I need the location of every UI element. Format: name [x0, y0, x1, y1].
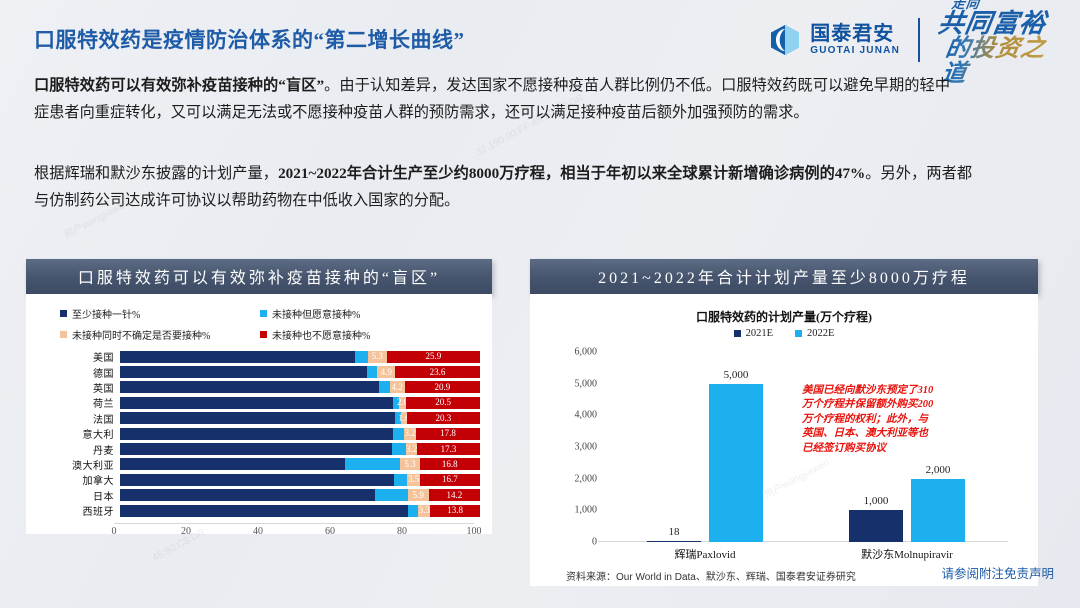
- brand-name-cn: 国泰君安: [810, 24, 900, 44]
- hexagon-logo-icon: [768, 23, 802, 57]
- bar-value-label: 20.3: [436, 414, 452, 423]
- stacked-bar: 1.620.3: [120, 412, 480, 424]
- table-row: 法国1.620.3: [26, 411, 492, 426]
- stacked-bar: 4.923.6: [120, 366, 480, 378]
- bar-segment: 3.5: [407, 474, 420, 486]
- bar-segment: [120, 366, 367, 378]
- right-chart-panel: 2021~2022年合计计划产量至少8000万疗程 口服特效药的计划产量(万个疗…: [530, 259, 1038, 586]
- bar-category-label: 荷兰: [26, 395, 120, 410]
- bar-segment: 4.2: [390, 381, 405, 393]
- left-chart-legend: 至少接种一针%未接种但愿意接种%未接种同时不确定是否要接种%未接种也不愿意接种%: [60, 306, 480, 342]
- bar-value-label: 5,000: [724, 369, 749, 381]
- bar-segment: [379, 381, 389, 393]
- bar-segment: 3.2: [406, 443, 418, 455]
- bar-value-label: 18: [669, 526, 680, 538]
- source-note: 资料来源：Our World in Data、默沙东、辉瑞、国泰君安证券研究: [566, 568, 856, 583]
- legend-label: 未接种但愿意接种%: [272, 306, 360, 321]
- brand-divider: [918, 18, 920, 62]
- bar-segment: [120, 351, 355, 363]
- x-axis-category-label: 辉瑞Paxlovid: [604, 546, 806, 562]
- left-chart-body: 至少接种一针%未接种但愿意接种%未接种同时不确定是否要接种%未接种也不愿意接种%…: [26, 294, 492, 534]
- right-chart-legend: 2021E2022E: [530, 328, 1038, 339]
- bar-segment: [120, 458, 345, 470]
- bar-value-label: 16.7: [442, 475, 458, 484]
- bar: 18: [647, 541, 701, 543]
- left-chart-panel: 口服特效药可以有效弥补疫苗接种的“盲区” 至少接种一针%未接种但愿意接种%未接种…: [26, 259, 492, 534]
- bar-segment: [355, 351, 368, 363]
- y-axis-tick: 6,000: [575, 347, 605, 358]
- bar-value-label: 25.9: [425, 352, 441, 361]
- right-panel-heading: 2021~2022年合计计划产量至少8000万疗程: [530, 259, 1038, 294]
- legend-label: 未接种同时不确定是否要接种%: [72, 327, 210, 342]
- left-chart-x-axis: 020406080100: [114, 523, 474, 540]
- bar-segment: 5.3: [368, 351, 387, 363]
- legend-item: 未接种也不愿意接种%: [260, 327, 460, 342]
- bar-group: 185,000: [604, 352, 806, 542]
- stacked-bar: 4.220.9: [120, 381, 480, 393]
- paragraph-2-bold: 2021~2022年合计生产至少约8000万疗程，相当于年初以来全球累计新增确诊…: [278, 165, 865, 182]
- x-axis-tick: 0: [112, 526, 117, 537]
- brand-name-en: GUOTAI JUNAN: [810, 45, 900, 56]
- bar-value-label: 14.2: [447, 491, 463, 500]
- bar-segment: [392, 443, 406, 455]
- bar-value-label: 20.9: [434, 383, 450, 392]
- bar-segment: [367, 366, 378, 378]
- x-axis-tick: 40: [253, 526, 263, 537]
- bar-segment: 3.3: [418, 505, 430, 517]
- bar-segment: 20.3: [407, 412, 480, 424]
- stacked-bar: 2.020.5: [120, 397, 480, 409]
- table-row: 丹麦3.217.3: [26, 441, 492, 456]
- bar-segment: 3.2: [404, 428, 416, 440]
- bar: 5,000: [709, 384, 763, 542]
- bar-segment: [345, 458, 400, 470]
- brand-lockup: 国泰君安 GUOTAI JUNAN 走向 共同富裕 的投资之道: [768, 14, 1066, 66]
- legend-label: 2022E: [807, 328, 834, 339]
- legend-item: 2022E: [795, 328, 834, 339]
- bar-segment: [120, 474, 394, 486]
- bar-segment: [394, 474, 408, 486]
- x-axis-tick: 100: [467, 526, 482, 537]
- bar-segment: 13.8: [430, 505, 480, 517]
- bar-value-label: 3.2: [406, 445, 417, 454]
- legend-swatch: [260, 331, 267, 338]
- right-chart-body: 口服特效药的计划产量(万个疗程) 2021E2022E 185,0001,000…: [530, 294, 1038, 586]
- legend-item: 至少接种一针%: [60, 306, 260, 321]
- bar-value-label: 2,000: [926, 464, 951, 476]
- bar-segment: 14.2: [429, 489, 480, 501]
- table-row: 日本5.914.2: [26, 488, 492, 503]
- bar-segment: 20.9: [405, 381, 480, 393]
- right-chart-title: 口服特效药的计划产量(万个疗程): [530, 308, 1038, 325]
- paragraph-2-pre: 根据辉瑞和默沙东披露的计划产量，: [34, 165, 278, 182]
- right-chart-annotation: 美国已经向默沙东预定了310万个疗程并保留额外购买200万个疗程的权利；此外，与…: [802, 384, 934, 456]
- x-axis-tick: 80: [397, 526, 407, 537]
- bar-value-label: 4.9: [381, 368, 392, 377]
- bar-segment: 4.9: [377, 366, 395, 378]
- left-chart-rows: 美国5.325.9德国4.923.6英国4.220.9荷兰2.020.5法国1.…: [26, 349, 492, 518]
- y-axis-tick: 2,000: [575, 473, 605, 484]
- table-row: 德国4.923.6: [26, 364, 492, 379]
- bar-category-label: 英国: [26, 380, 120, 395]
- bar-segment: [120, 505, 408, 517]
- bar-value-label: 17.8: [440, 429, 456, 438]
- stacked-bar: 3.313.8: [120, 505, 480, 517]
- bar-segment: 2.0: [399, 397, 406, 409]
- y-axis-tick: 0: [592, 537, 604, 548]
- paragraph-1-lead: 口服特效药可以有效弥补疫苗接种的“盲区”: [34, 77, 324, 94]
- y-axis-tick: 4,000: [575, 410, 605, 421]
- bar-category-label: 丹麦: [26, 442, 120, 457]
- legend-swatch: [734, 330, 741, 337]
- legend-item: 2021E: [734, 328, 773, 339]
- x-axis-tick: 60: [325, 526, 335, 537]
- legend-item: 未接种但愿意接种%: [260, 306, 460, 321]
- bar-value-label: 1,000: [864, 495, 889, 507]
- table-row: 美国5.325.9: [26, 349, 492, 364]
- guotai-junan-logo: 国泰君安 GUOTAI JUNAN: [768, 23, 900, 57]
- campaign-slogan: 走向 共同富裕 的投资之道: [938, 0, 1066, 87]
- bar-segment: 5.3: [400, 458, 419, 470]
- legend-item: 未接种同时不确定是否要接种%: [60, 327, 260, 342]
- bar-value-label: 5.9: [413, 491, 424, 500]
- table-row: 澳大利亚5.316.8: [26, 457, 492, 472]
- bar-segment: 20.5: [406, 397, 480, 409]
- bar-segment: [120, 428, 393, 440]
- stacked-bar: 5.316.8: [120, 458, 480, 470]
- bar-category-label: 日本: [26, 488, 120, 503]
- legend-label: 至少接种一针%: [72, 306, 140, 321]
- slogan-line-3: 的投资之道: [940, 35, 1066, 85]
- paragraph-1: 口服特效药可以有效弥补疫苗接种的“盲区”。由于认知差异，发达国家不愿接种疫苗人群…: [34, 72, 950, 126]
- y-axis-tick: 3,000: [575, 442, 605, 453]
- stacked-bar: 3.516.7: [120, 474, 480, 486]
- bar-value-label: 20.5: [435, 398, 451, 407]
- right-chart-x-labels: 辉瑞Paxlovid默沙东Molnupiravir: [604, 546, 1008, 562]
- bar-value-label: 23.6: [430, 368, 446, 377]
- bar-segment: [408, 505, 418, 517]
- bar: 1,000: [849, 510, 903, 542]
- bar-category-label: 澳大利亚: [26, 457, 120, 472]
- bar-segment: [120, 489, 375, 501]
- legend-label: 未接种也不愿意接种%: [272, 327, 370, 342]
- stacked-bar: 5.325.9: [120, 351, 480, 363]
- table-row: 意大利3.217.8: [26, 426, 492, 441]
- bar-category-label: 西班牙: [26, 503, 120, 518]
- bar-value-label: 17.3: [441, 445, 457, 454]
- bar-value-label: 3.2: [405, 429, 416, 438]
- legend-swatch: [60, 310, 67, 317]
- bar-value-label: 13.8: [447, 506, 463, 515]
- legend-swatch: [60, 331, 67, 338]
- bar-segment: 23.6: [395, 366, 480, 378]
- page-title: 口服特效药是疫情防治体系的“第二增长曲线”: [34, 24, 465, 54]
- bar-segment: 16.8: [420, 458, 480, 470]
- bar-segment: [393, 428, 405, 440]
- y-axis-tick: 1,000: [575, 505, 605, 516]
- legend-swatch: [260, 310, 267, 317]
- y-axis-tick: 5,000: [575, 378, 605, 389]
- bar-segment: [120, 412, 395, 424]
- bar-segment: [120, 443, 392, 455]
- stacked-bar: 3.217.3: [120, 443, 480, 455]
- table-row: 荷兰2.020.5: [26, 395, 492, 410]
- table-row: 西班牙3.313.8: [26, 503, 492, 518]
- paragraph-2: 根据辉瑞和默沙东披露的计划产量，2021~2022年合计生产至少约8000万疗程…: [34, 160, 972, 214]
- bar-category-label: 意大利: [26, 426, 120, 441]
- bar-value-label: 4.2: [392, 383, 403, 392]
- bar-value-label: 16.8: [442, 460, 458, 469]
- bar-segment: 16.7: [420, 474, 480, 486]
- left-panel-heading: 口服特效药可以有效弥补疫苗接种的“盲区”: [26, 259, 492, 294]
- bar-value-label: 5.3: [404, 460, 415, 469]
- bar-segment: 17.8: [416, 428, 480, 440]
- bar-category-label: 德国: [26, 365, 120, 380]
- bar-value-label: 5.3: [372, 352, 383, 361]
- bar-segment: 5.9: [408, 489, 429, 501]
- bar: 2,000: [911, 479, 965, 542]
- table-row: 加拿大3.516.7: [26, 472, 492, 487]
- bar-segment: 17.3: [417, 443, 479, 455]
- x-axis-tick: 20: [181, 526, 191, 537]
- stacked-bar: 3.217.8: [120, 428, 480, 440]
- bar-segment: [120, 381, 379, 393]
- bar-category-label: 美国: [26, 349, 120, 364]
- legend-label: 2021E: [746, 328, 773, 339]
- bar-category-label: 加拿大: [26, 472, 120, 487]
- bar-value-label: 3.3: [419, 506, 430, 515]
- legend-swatch: [795, 330, 802, 337]
- stacked-bar: 5.914.2: [120, 489, 480, 501]
- bar-segment: 25.9: [387, 351, 480, 363]
- disclaimer-link[interactable]: 请参阅附注免责声明: [941, 563, 1054, 582]
- bar-segment: [375, 489, 408, 501]
- bar-segment: [120, 397, 393, 409]
- table-row: 英国4.220.9: [26, 380, 492, 395]
- bar-value-label: 3.5: [408, 475, 419, 484]
- x-axis-category-label: 默沙东Molnupiravir: [806, 546, 1008, 562]
- bar-category-label: 法国: [26, 411, 120, 426]
